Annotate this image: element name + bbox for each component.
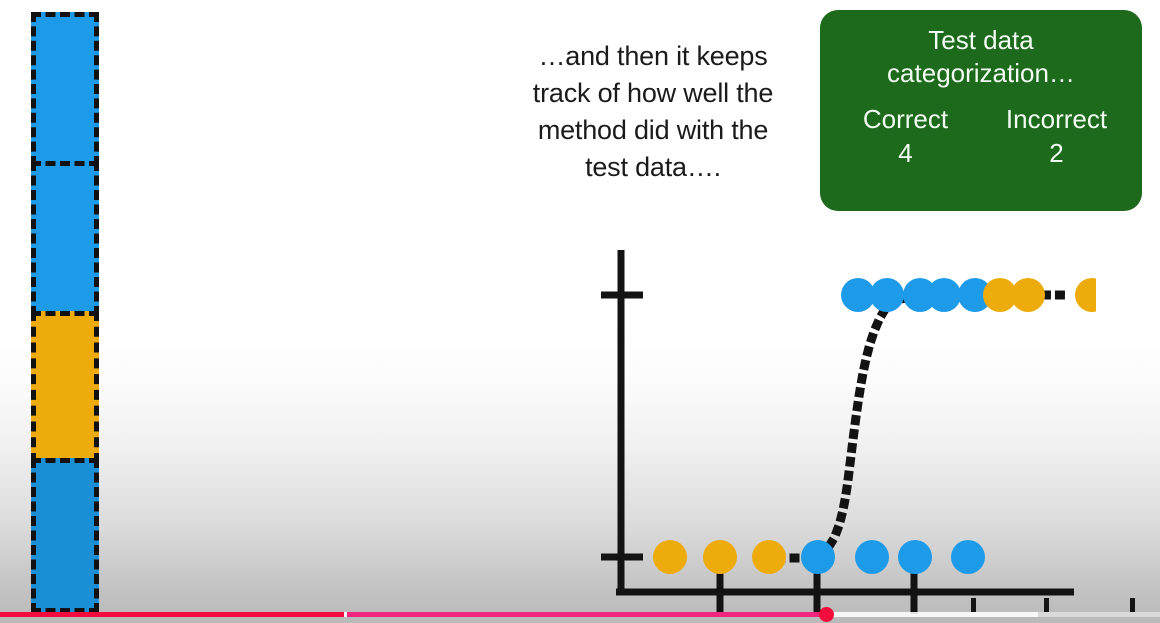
data-point-orange-s1-0 [653, 540, 687, 574]
chapter-mark-1 [1044, 598, 1049, 612]
progress-scrubber-handle[interactable] [819, 607, 834, 622]
incorrect-value: 2 [981, 134, 1132, 172]
fold-block-4 [31, 458, 99, 613]
data-point-orange-s0-6 [1011, 278, 1045, 312]
card-columns: Correct 4 Incorrect 2 [830, 104, 1132, 172]
video-player-screen: …and then it keeps track of how well the… [0, 0, 1160, 623]
incorrect-label: Incorrect [981, 104, 1132, 134]
correct-label: Correct [830, 104, 981, 134]
card-title-line-1: Test data [830, 24, 1132, 57]
data-point-orange-s1-1 [703, 540, 737, 574]
correct-column: Correct 4 [830, 104, 981, 172]
video-progress-bar[interactable] [0, 612, 1160, 617]
logistic-regression-plot [596, 240, 1096, 615]
plot-canvas [596, 240, 1096, 615]
cross-validation-fold-strip [31, 12, 99, 623]
fold-block-1 [31, 12, 99, 166]
test-data-categorization-card: Test data categorization… Correct 4 Inco… [820, 10, 1142, 211]
data-point-blue-s0-3 [927, 278, 961, 312]
progress-played-segment-2 [347, 612, 826, 617]
chapter-mark-0 [971, 598, 976, 612]
fold-block-3-test [31, 311, 99, 463]
correct-value: 4 [830, 134, 981, 172]
caption-line-2: track of how well the [493, 75, 813, 112]
data-point-orange-s0-7 [1075, 278, 1096, 312]
data-point-blue-s1-3 [801, 540, 835, 574]
card-title: Test data categorization… [830, 24, 1132, 90]
data-point-blue-s1-4 [855, 540, 889, 574]
data-point-orange-s1-2 [752, 540, 786, 574]
caption-line-4: test data…. [493, 149, 813, 186]
incorrect-column: Incorrect 2 [981, 104, 1132, 172]
progress-played-segment-1 [0, 612, 344, 617]
caption-line-3: method did with the [493, 112, 813, 149]
caption-line-1: …and then it keeps [493, 38, 813, 75]
logistic-fit-curve [766, 294, 1066, 558]
data-point-blue-s1-5 [898, 540, 932, 574]
chapter-mark-2 [1130, 598, 1135, 612]
slide-caption: …and then it keeps track of how well the… [493, 38, 813, 186]
data-point-blue-s1-6 [951, 540, 985, 574]
data-point-blue-s0-1 [870, 278, 904, 312]
data-point-blue-s0-0 [841, 278, 875, 312]
fold-block-2 [31, 161, 99, 316]
card-title-line-2: categorization… [830, 57, 1132, 90]
